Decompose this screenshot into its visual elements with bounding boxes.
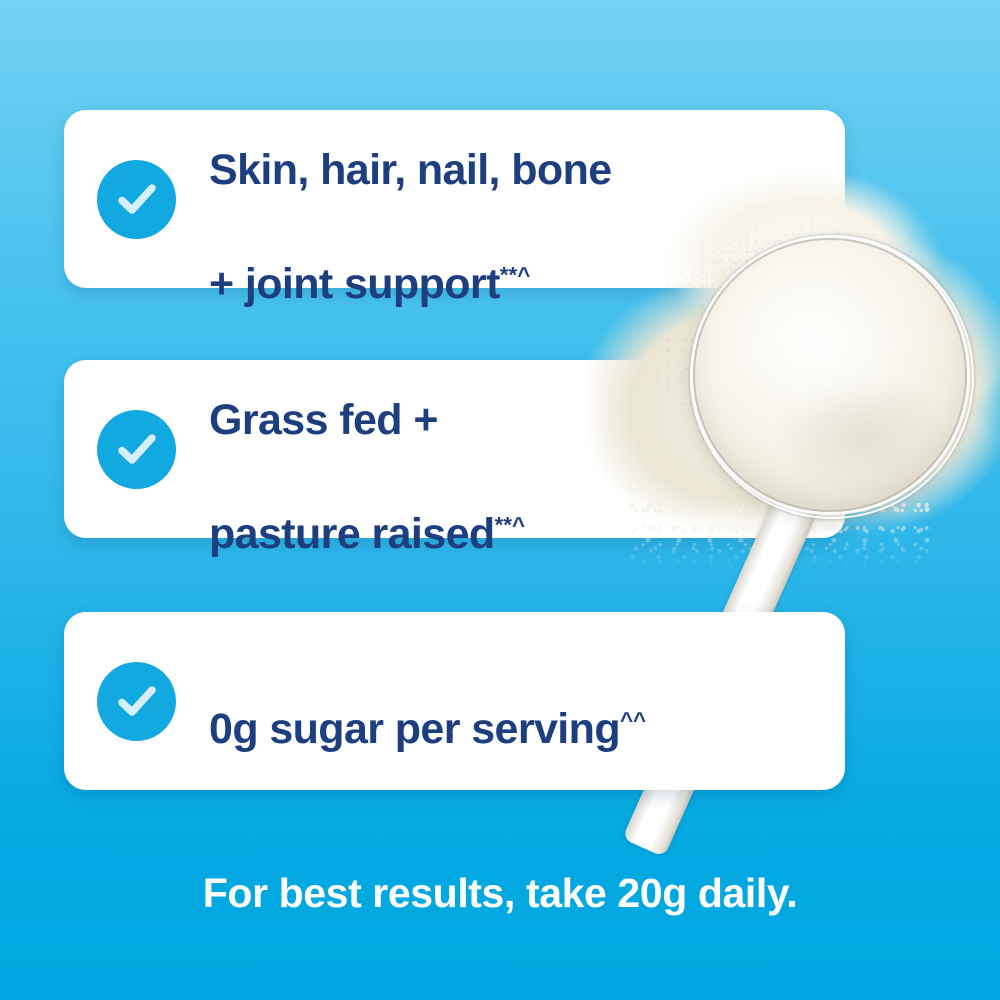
benefit-text: 0g sugar per serving^^ xyxy=(209,644,646,758)
benefit-footnote-marker: ^^ xyxy=(620,708,646,733)
benefit-card: Grass fed + pasture raised**^ xyxy=(64,360,845,538)
benefit-text: Skin, hair, nail, bone + joint support**… xyxy=(209,86,612,313)
usage-tagline: For best results, take 20g daily. xyxy=(0,870,1000,917)
benefit-footnote-marker: **^ xyxy=(500,262,530,287)
check-circle-icon xyxy=(97,410,176,489)
benefit-line-2: + joint support xyxy=(209,260,500,308)
benefit-card: Skin, hair, nail, bone + joint support**… xyxy=(64,110,845,288)
benefit-line-2: pasture raised xyxy=(209,510,495,558)
benefit-line-1: Grass fed + xyxy=(209,396,438,444)
benefit-line-1: Skin, hair, nail, bone xyxy=(209,146,612,194)
check-circle-icon xyxy=(97,160,176,239)
benefit-footnote-marker: **^ xyxy=(495,512,525,537)
product-benefits-graphic: Skin, hair, nail, bone + joint support**… xyxy=(0,0,1000,1000)
benefit-line-1: 0g sugar per serving xyxy=(209,705,620,753)
check-circle-icon xyxy=(97,662,176,741)
benefit-card: 0g sugar per serving^^ xyxy=(64,612,845,790)
benefit-text: Grass fed + pasture raised**^ xyxy=(209,336,525,563)
